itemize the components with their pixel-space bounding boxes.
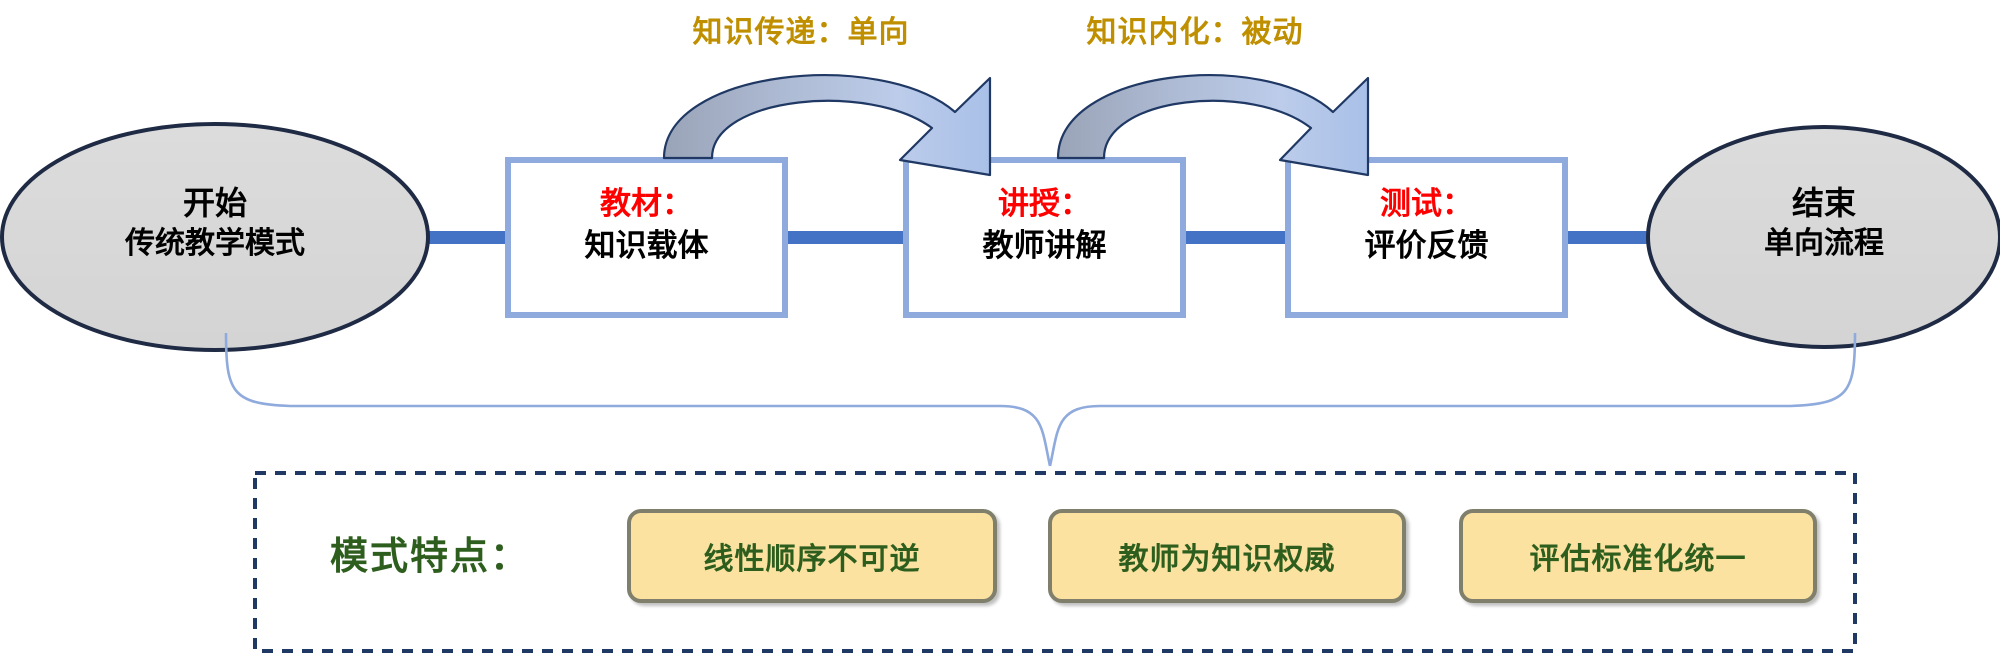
curved-arrow-2-caption: 知识内化：被动: [1060, 16, 1330, 49]
end-node-line1: 结束: [1654, 186, 1994, 221]
flowchart-diagram: 知识传递：单向 知识内化：被动 开始 传统教学模式 结束 单向流程 教材： 知识…: [0, 0, 2000, 659]
process-box-2-heading: 讲授：: [906, 187, 1183, 221]
start-node-line2: 传统教学模式: [15, 227, 415, 260]
process-box-1-body: 知识载体: [508, 229, 785, 263]
process-box-2-label[interactable]: 讲授： 教师讲解: [906, 187, 1183, 263]
curved-arrow-1-caption: 知识传递：单向: [666, 16, 936, 49]
process-box-1-label[interactable]: 教材： 知识载体: [508, 187, 785, 263]
process-box-3-heading: 测试：: [1288, 187, 1565, 221]
feature-panel-title: 模式特点：: [330, 537, 530, 579]
process-box-3-body: 评价反馈: [1288, 229, 1565, 263]
feature-tag-2[interactable]: 教师为知识权威: [1048, 509, 1406, 603]
process-box-2-body: 教师讲解: [906, 229, 1183, 263]
start-node-line1: 开始: [15, 186, 415, 221]
feature-tag-3[interactable]: 评估标准化统一: [1459, 509, 1817, 603]
feature-tag-3-label: 评估标准化统一: [1530, 534, 1747, 578]
feature-tag-2-label: 教师为知识权威: [1119, 534, 1336, 578]
process-box-1-heading: 教材：: [508, 187, 785, 221]
process-box-3-label[interactable]: 测试： 评价反馈: [1288, 187, 1565, 263]
end-node-line2: 单向流程: [1654, 227, 1994, 260]
feature-tag-1-label: 线性顺序不可逆: [704, 534, 921, 578]
feature-tag-1[interactable]: 线性顺序不可逆: [627, 509, 997, 603]
end-node-label[interactable]: 结束 单向流程: [1654, 186, 1994, 260]
start-node-label[interactable]: 开始 传统教学模式: [15, 186, 415, 260]
summary-brace: [226, 333, 1855, 466]
